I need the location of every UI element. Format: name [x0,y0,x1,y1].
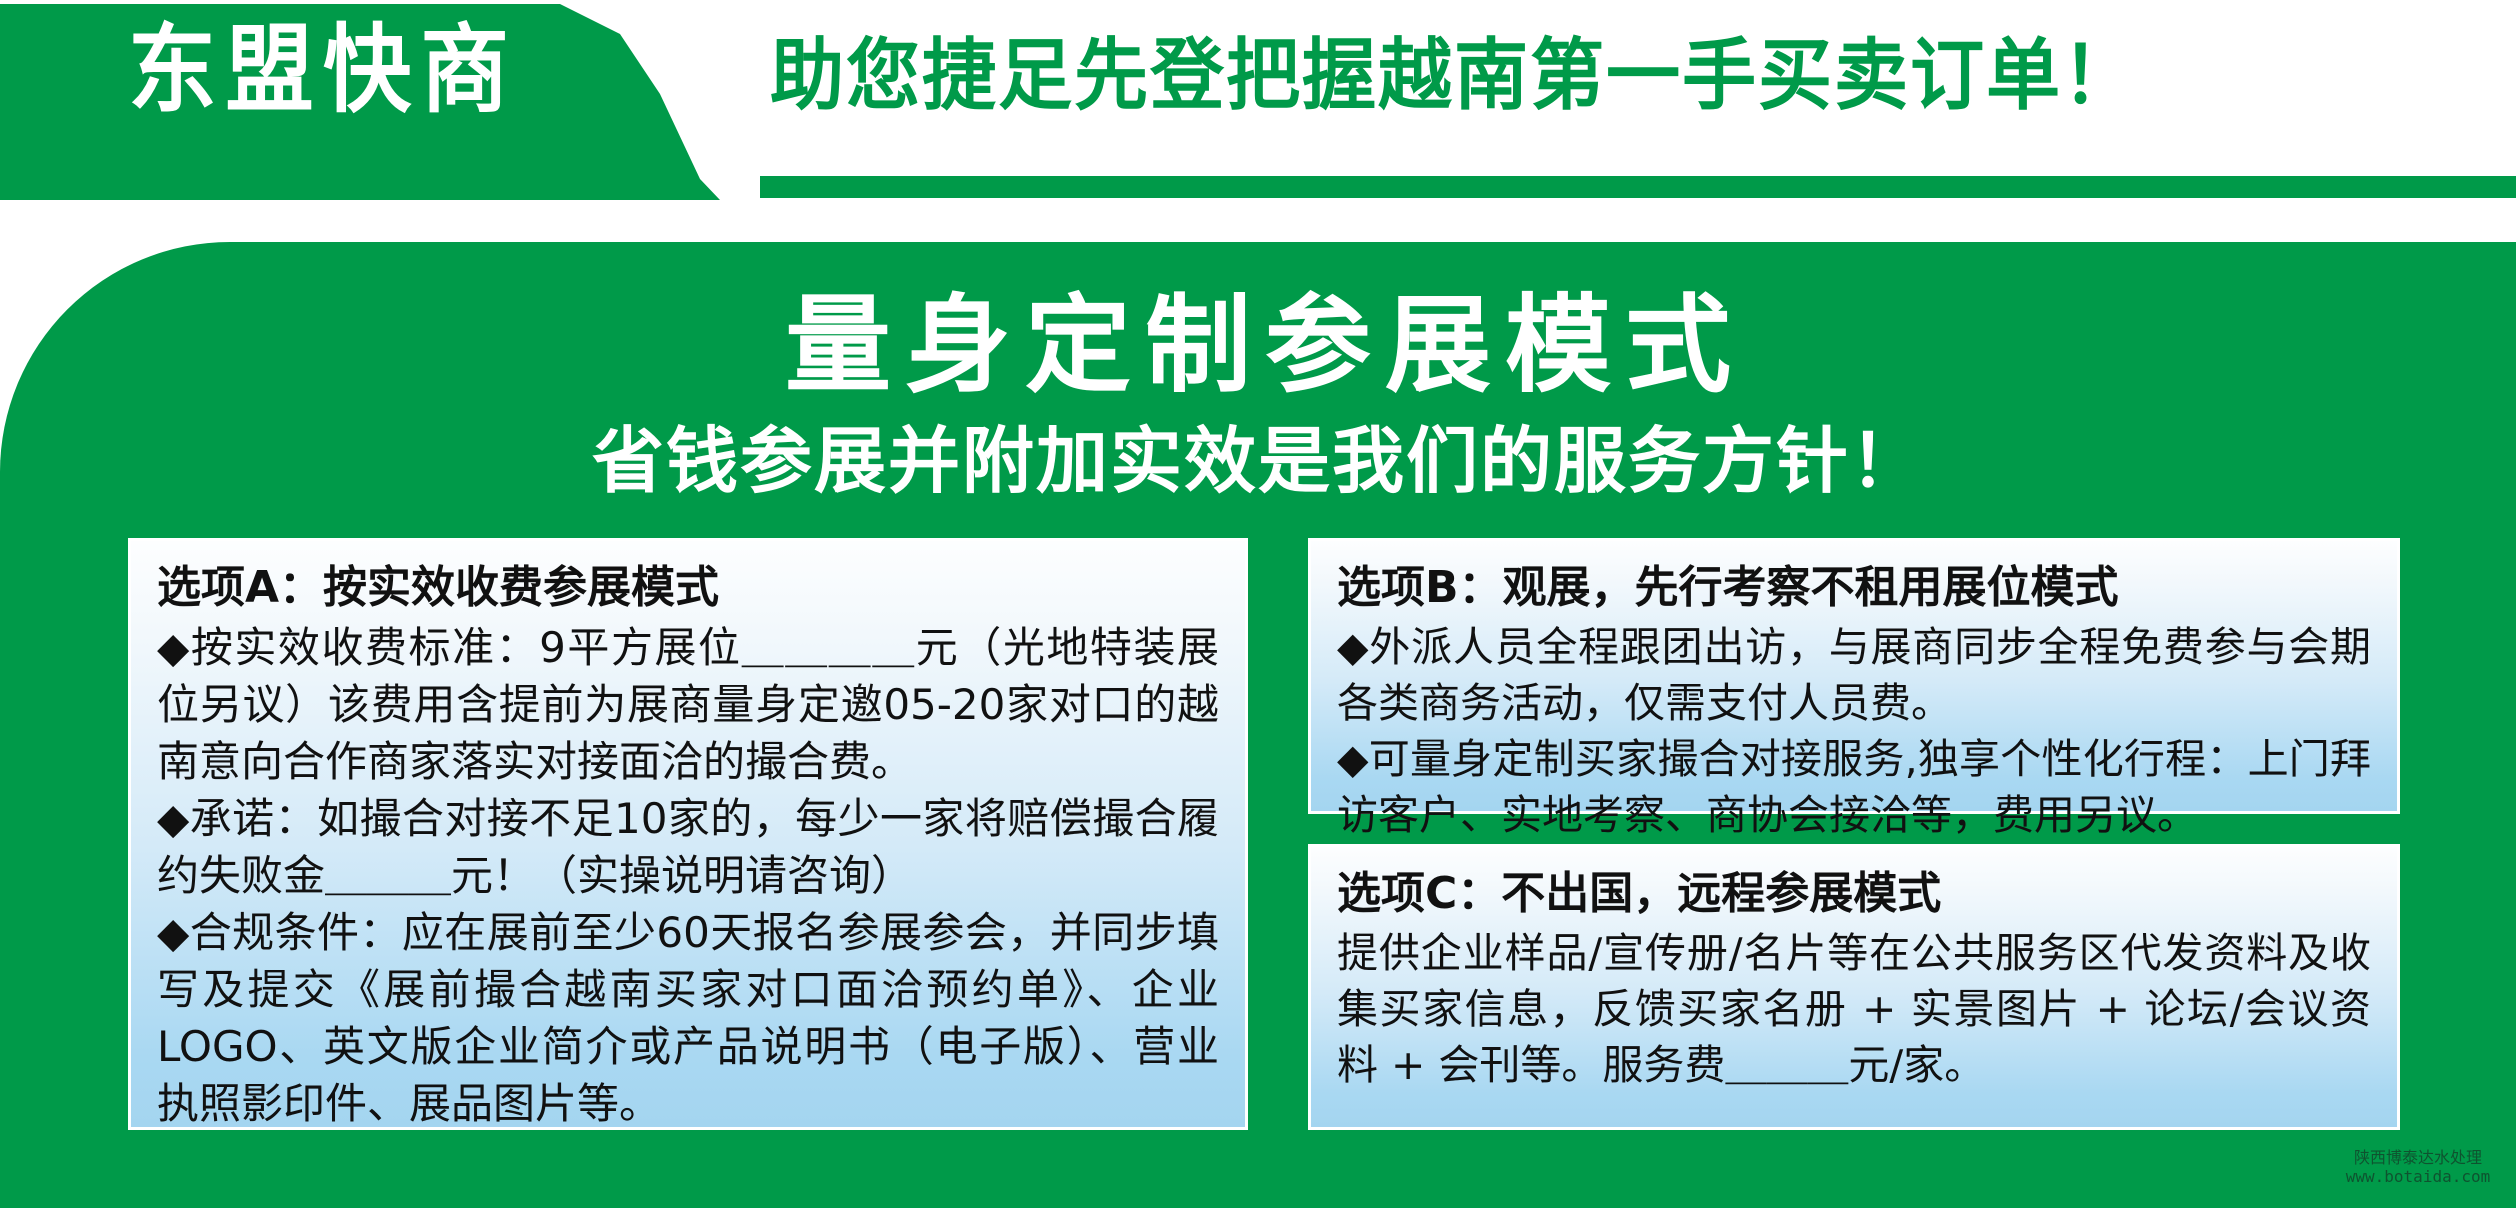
option-a-line-1: ◆按实效收费标准：9平方展位＿＿＿＿元（光地特装展位另议）该费用含提前为展商量身… [157,619,1219,790]
header-slogan: 助您捷足先登把握越南第一手买卖订单！ [770,30,2138,122]
option-a-line-3: ◆合规条件：应在展前至少60天报名参展参会，并同步填写及提交《展前撮合越南买家对… [157,904,1219,1132]
option-b-line-1: ◆外派人员全程跟团出访，与展商同步全程免费参与会期各类商务活动，仅需支付人员费。 [1337,619,2371,731]
option-a-title: 选项A：按实效收费参展模式 [157,559,1219,617]
watermark-company: 陕西博泰达水处理 [2326,1148,2510,1167]
header-underbar [760,176,2516,198]
option-a-line-2: ◆承诺：如撮合对接不足10家的，每少一家将赔偿撮合履约失败金＿＿＿元！（实操说明… [157,790,1219,904]
header-band: 东盟快商 助您捷足先登把握越南第一手买卖订单！ [0,0,2516,200]
option-c-body: 提供企业样品/宣传册/名片等在公共服务区代发资料及收集买家信息，反馈买家名册 +… [1337,925,2371,1093]
watermark-url: www.botaida.com [2326,1167,2510,1186]
page-subtitle: 省钱参展并附加实效是我们的服务方针！ [0,420,2516,502]
option-b-card: 选项B：观展，先行考察不租用展位模式 ◆外派人员全程跟团出访，与展商同步全程免费… [1308,538,2400,814]
option-c-card: 选项C：不出国，远程参展模式 提供企业样品/宣传册/名片等在公共服务区代发资料及… [1308,844,2400,1130]
option-b-line-2: ◆可量身定制买家撮合对接服务,独享个性化行程：上门拜访客户、实地考察、商协会接洽… [1337,731,2371,843]
option-c-line-1: 提供企业样品/宣传册/名片等在公共服务区代发资料及收集买家信息，反馈买家名册 +… [1337,925,2371,1093]
option-c-title: 选项C：不出国，远程参展模式 [1337,865,2371,923]
page-title: 量身定制参展模式 [0,288,2516,404]
option-a-card: 选项A：按实效收费参展模式 ◆按实效收费标准：9平方展位＿＿＿＿元（光地特装展位… [128,538,1248,1130]
body-panel: 量身定制参展模式 省钱参展并附加实效是我们的服务方针！ 选项A：按实效收费参展模… [0,242,2516,1208]
option-b-title: 选项B：观展，先行考察不租用展位模式 [1337,559,2371,617]
watermark: 陕西博泰达水处理 www.botaida.com [2326,1148,2510,1186]
option-a-body: ◆按实效收费标准：9平方展位＿＿＿＿元（光地特装展位另议）该费用含提前为展商量身… [157,619,1219,1132]
brand-logo-text: 东盟快商 [128,18,518,122]
option-b-body: ◆外派人员全程跟团出访，与展商同步全程免费参与会期各类商务活动，仅需支付人员费。… [1337,619,2371,843]
